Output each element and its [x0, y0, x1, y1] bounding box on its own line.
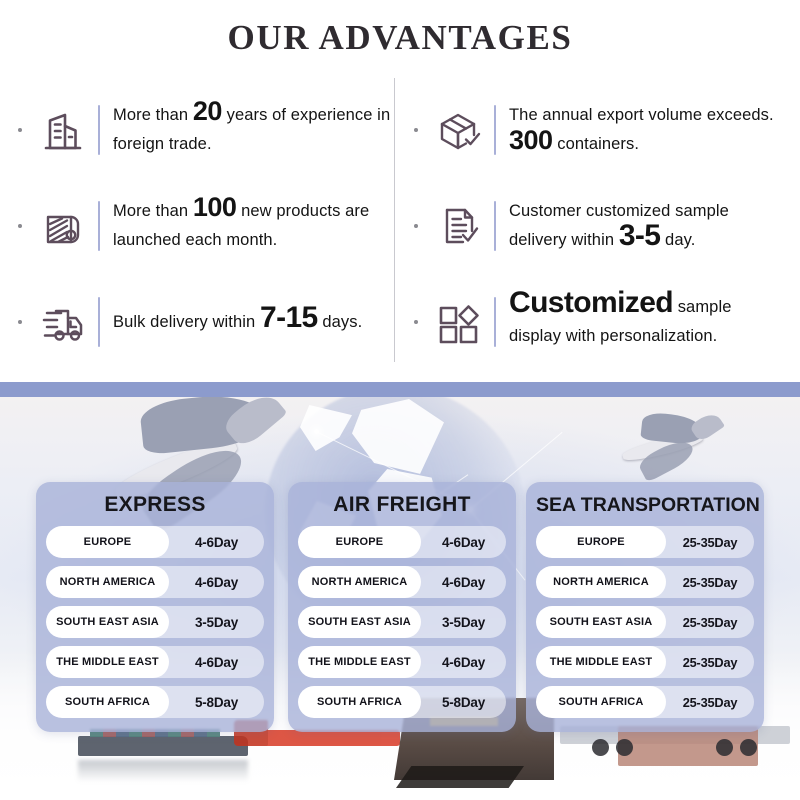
table-row[interactable]: NORTH AMERICA 25-35Day [536, 566, 754, 598]
region-label: SOUTH AFRICA [46, 686, 169, 718]
table-row[interactable]: SOUTH AFRICA 5-8Day [298, 686, 506, 718]
icon-separator [98, 105, 100, 155]
advantage-text-sample-delivery: Customer customized sample delivery with… [509, 197, 796, 255]
advantage-highlight-number: 300 [509, 125, 553, 155]
advantage-item-sample-delivery: Customer customized sample delivery with… [400, 178, 796, 274]
transit-days: 5-8Day [421, 695, 506, 710]
fast-delivery-truck-icon [32, 291, 94, 353]
section-divider-band [0, 382, 800, 397]
bullet-dot [18, 224, 22, 228]
region-label: SOUTH EAST ASIA [536, 606, 666, 638]
region-label: EUROPE [298, 526, 421, 558]
advantage-text-pre: The annual export volume exceeds. [509, 106, 774, 124]
icon-separator [98, 201, 100, 251]
advantage-text-experience: More than 20 years of experience in fore… [113, 101, 400, 159]
table-row[interactable]: SOUTH AFRICA 25-35Day [536, 686, 754, 718]
icon-separator [494, 105, 496, 155]
office-building-icon [32, 99, 94, 161]
advantage-text-pre: More than [113, 106, 193, 124]
region-label: SOUTH AFRICA [536, 686, 666, 718]
advantages-grid: More than 20 years of experience in fore… [0, 82, 800, 372]
shipping-panels: EXPRESS EUROPE 4-6Day NORTH AMERICA 4-6D… [0, 397, 800, 800]
table-row[interactable]: THE MIDDLE EAST 4-6Day [298, 646, 506, 678]
shipping-panel-air-freight: AIR FREIGHT EUROPE 4-6Day NORTH AMERICA … [288, 482, 516, 732]
advantage-text-bulk-delivery: Bulk delivery within 7-15 days. [113, 308, 400, 337]
advantage-highlight-word: Customized [509, 286, 673, 319]
advantages-column-left: More than 20 years of experience in fore… [4, 82, 400, 372]
transit-days: 3-5Day [421, 615, 506, 630]
panel-title: AIR FREIGHT [298, 488, 506, 522]
transit-days: 25-35Day [666, 695, 754, 710]
shipping-panel-express: EXPRESS EUROPE 4-6Day NORTH AMERICA 4-6D… [36, 482, 274, 732]
table-row[interactable]: SOUTH EAST ASIA 3-5Day [298, 606, 506, 638]
page-title: OUR ADVANTAGES [0, 18, 800, 58]
advantage-text-post: day. [660, 231, 695, 249]
transit-days: 25-35Day [666, 535, 754, 550]
fabric-roll-icon [32, 195, 94, 257]
transit-days: 4-6Day [421, 575, 506, 590]
advantage-item-new-products: More than 100 new products are launched … [4, 178, 400, 274]
panel-rows: EUROPE 4-6Day NORTH AMERICA 4-6Day SOUTH… [298, 526, 506, 718]
transit-days: 4-6Day [421, 535, 506, 550]
advantage-item-experience: More than 20 years of experience in fore… [4, 82, 400, 178]
advantages-section: OUR ADVANTAGES [0, 0, 800, 382]
transit-days: 4-6Day [421, 655, 506, 670]
shipping-section: EXPRESS EUROPE 4-6Day NORTH AMERICA 4-6D… [0, 397, 800, 800]
table-row[interactable]: NORTH AMERICA 4-6Day [46, 566, 264, 598]
advantage-highlight-number: 7-15 [260, 301, 318, 334]
advantage-text-pre: More than [113, 202, 193, 220]
transit-days: 25-35Day [666, 655, 754, 670]
icon-separator [98, 297, 100, 347]
table-row[interactable]: EUROPE 4-6Day [298, 526, 506, 558]
shipping-panel-sea-transportation: SEA TRANSPORTATION EUROPE 25-35Day NORTH… [526, 482, 764, 732]
table-row[interactable]: SOUTH EAST ASIA 25-35Day [536, 606, 754, 638]
bullet-dot [18, 320, 22, 324]
transit-days: 4-6Day [169, 655, 264, 670]
advantage-text-post: days. [318, 313, 363, 331]
bullet-dot [18, 128, 22, 132]
advantage-highlight-number: 3-5 [619, 219, 661, 252]
table-row[interactable]: THE MIDDLE EAST 25-35Day [536, 646, 754, 678]
shapes-grid-icon [428, 291, 490, 353]
region-label: EUROPE [536, 526, 666, 558]
table-row[interactable]: THE MIDDLE EAST 4-6Day [46, 646, 264, 678]
icon-separator [494, 201, 496, 251]
bullet-dot [414, 320, 418, 324]
document-check-icon [428, 195, 490, 257]
advantage-text-customized: Customized sample display with personali… [509, 293, 796, 351]
region-label: THE MIDDLE EAST [46, 646, 169, 678]
panel-title: EXPRESS [46, 488, 264, 522]
region-label: NORTH AMERICA [298, 566, 421, 598]
bullet-dot [414, 128, 418, 132]
table-row[interactable]: SOUTH AFRICA 5-8Day [46, 686, 264, 718]
region-label: EUROPE [46, 526, 169, 558]
advantage-text-post: containers. [553, 135, 640, 153]
table-row[interactable]: EUROPE 4-6Day [46, 526, 264, 558]
panel-rows: EUROPE 25-35Day NORTH AMERICA 25-35Day S… [536, 526, 754, 718]
transit-days: 5-8Day [169, 695, 264, 710]
advantage-text-pre: Bulk delivery within [113, 313, 260, 331]
advantages-shipping-infographic: OUR ADVANTAGES [0, 0, 800, 800]
region-label: NORTH AMERICA [536, 566, 666, 598]
region-label: SOUTH EAST ASIA [298, 606, 421, 638]
region-label: THE MIDDLE EAST [536, 646, 666, 678]
advantage-highlight-number: 100 [193, 192, 237, 222]
package-check-icon [428, 99, 490, 161]
region-label: SOUTH AFRICA [298, 686, 421, 718]
table-row[interactable]: EUROPE 25-35Day [536, 526, 754, 558]
advantage-text-export-volume: The annual export volume exceeds. 300 co… [509, 101, 796, 159]
region-label: THE MIDDLE EAST [298, 646, 421, 678]
region-label: NORTH AMERICA [46, 566, 169, 598]
panel-rows: EUROPE 4-6Day NORTH AMERICA 4-6Day SOUTH… [46, 526, 264, 718]
bullet-dot [414, 224, 418, 228]
advantage-text-new-products: More than 100 new products are launched … [113, 197, 400, 255]
advantage-item-export-volume: The annual export volume exceeds. 300 co… [400, 82, 796, 178]
advantage-item-customized: Customized sample display with personali… [400, 274, 796, 370]
table-row[interactable]: SOUTH EAST ASIA 3-5Day [46, 606, 264, 638]
advantages-column-right: The annual export volume exceeds. 300 co… [400, 82, 796, 372]
table-row[interactable]: NORTH AMERICA 4-6Day [298, 566, 506, 598]
region-label: SOUTH EAST ASIA [46, 606, 169, 638]
panel-title: SEA TRANSPORTATION [536, 488, 754, 522]
advantage-item-bulk-delivery: Bulk delivery within 7-15 days. [4, 274, 400, 370]
advantage-highlight-number: 20 [193, 96, 222, 126]
icon-separator [494, 297, 496, 347]
transit-days: 25-35Day [666, 615, 754, 630]
transit-days: 3-5Day [169, 615, 264, 630]
transit-days: 25-35Day [666, 575, 754, 590]
transit-days: 4-6Day [169, 535, 264, 550]
transit-days: 4-6Day [169, 575, 264, 590]
